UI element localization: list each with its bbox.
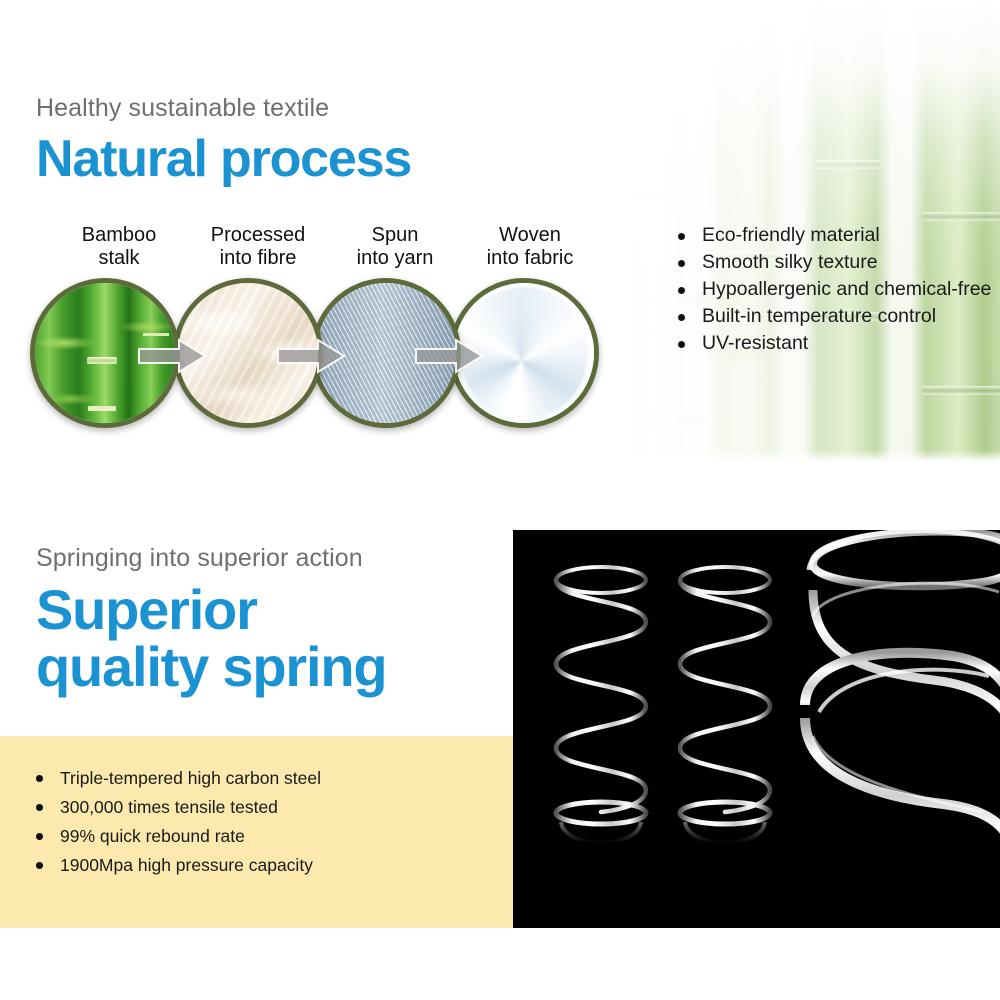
step-label-line1: Bamboo <box>82 224 157 246</box>
bottom-headline-line2: quality spring <box>36 638 386 695</box>
feature-list-item: 1900Mpa high pressure capacity <box>34 851 321 880</box>
top-feature-list: Eco-friendly material Smooth silky textu… <box>676 222 991 357</box>
process-chain: Bamboo stalk Processed into fibre Spun i… <box>0 0 640 466</box>
superior-spring-section: Springing into superior action Superior … <box>0 466 1000 1000</box>
feature-list-item: Hypoallergenic and chemical-free <box>676 276 991 303</box>
feature-list-item: Eco-friendly material <box>676 222 991 249</box>
process-step-label-1: Bamboo stalk <box>44 224 194 270</box>
feature-list-item: Smooth silky texture <box>676 249 991 276</box>
feature-list-item: Built-in temperature control <box>676 303 991 330</box>
photo-bottom-fade <box>580 450 1000 466</box>
bottom-feature-list: Triple-tempered high carbon steel 300,00… <box>34 764 321 880</box>
step-label-line1: Woven <box>499 224 561 246</box>
step-label-line2: into fabric <box>487 247 574 269</box>
feature-list-item: Triple-tempered high carbon steel <box>34 764 321 793</box>
coil-springs-illustration <box>513 530 1000 928</box>
arrow-right-icon <box>137 337 207 375</box>
coil-springs-photo <box>513 530 1000 928</box>
natural-process-section: Healthy sustainable textile Natural proc… <box>0 0 1000 466</box>
process-step-label-4: Woven into fabric <box>455 224 605 270</box>
step-label-line2: stalk <box>98 247 139 269</box>
process-step-label-3: Spun into yarn <box>320 224 470 270</box>
feature-list-item: UV-resistant <box>676 330 991 357</box>
process-step-label-2: Processed into fibre <box>183 224 333 270</box>
bottom-headline: Superior quality spring <box>36 581 386 695</box>
step-label-line2: into fibre <box>220 247 297 269</box>
feature-list-item: 300,000 times tensile tested <box>34 793 321 822</box>
infographic-page: Healthy sustainable textile Natural proc… <box>0 0 1000 1000</box>
step-label-line1: Spun <box>372 224 419 246</box>
bottom-headline-line1: Superior <box>36 578 257 641</box>
feature-list-item: 99% quick rebound rate <box>34 822 321 851</box>
bottom-kicker-text: Springing into superior action <box>36 544 363 573</box>
step-label-line2: into yarn <box>357 247 434 269</box>
arrow-right-icon <box>276 337 346 375</box>
arrow-right-icon <box>414 337 484 375</box>
step-label-line1: Processed <box>211 224 306 246</box>
